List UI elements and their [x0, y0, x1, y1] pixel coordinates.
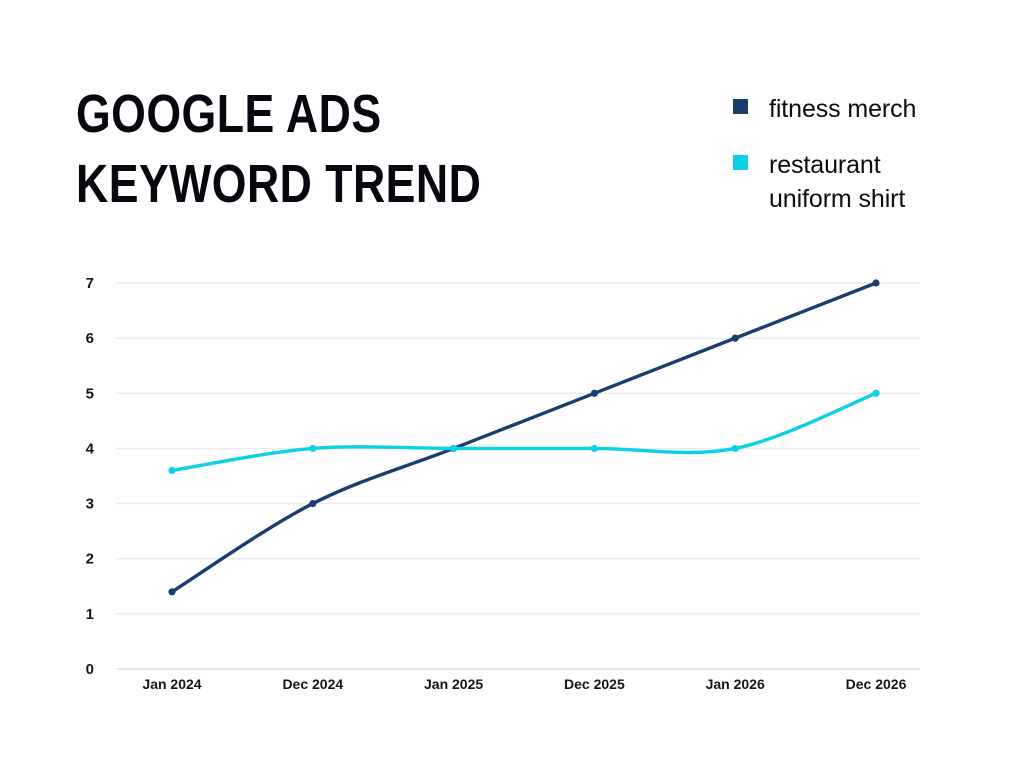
line-chart: 01234567 Jan 2024Dec 2024Jan 2025Dec 202…: [0, 0, 1024, 768]
y-axis-tick-label: 3: [86, 496, 94, 513]
data-point-marker: [309, 445, 316, 452]
x-axis-tick-label: Dec 2024: [282, 676, 343, 692]
y-axis-tick-label: 7: [86, 275, 94, 292]
y-axis-tick-label: 4: [86, 440, 95, 457]
y-axis-tick-label: 5: [86, 385, 94, 402]
x-axis-tick-label: Jan 2025: [424, 676, 483, 692]
data-point-marker: [872, 390, 879, 397]
data-point-marker: [450, 445, 457, 452]
slide-canvas: GOOGLE ADS KEYWORD TREND fitness merch r…: [0, 0, 1024, 768]
series-lines: [172, 283, 876, 592]
x-axis-tick-label: Dec 2026: [846, 676, 907, 692]
gridlines: [117, 283, 920, 669]
y-axis-tick-label: 0: [86, 661, 94, 678]
y-axis-tick-label: 1: [86, 606, 94, 623]
data-point-marker: [732, 445, 739, 452]
y-axis-ticks: 01234567: [86, 275, 95, 678]
data-point-marker: [872, 279, 879, 286]
y-axis-tick-label: 2: [86, 551, 94, 568]
x-axis-ticks: Jan 2024Dec 2024Jan 2025Dec 2025Jan 2026…: [142, 676, 906, 692]
x-axis-tick-label: Dec 2025: [564, 676, 625, 692]
series-line: [172, 393, 876, 470]
data-point-marker: [591, 390, 598, 397]
data-point-marker: [168, 588, 175, 595]
data-point-marker: [168, 467, 175, 474]
y-axis-tick-label: 6: [86, 330, 94, 347]
data-point-marker: [591, 445, 598, 452]
x-axis-tick-label: Jan 2026: [706, 676, 765, 692]
x-axis-tick-label: Jan 2024: [142, 676, 201, 692]
data-point-marker: [309, 500, 316, 507]
data-point-marker: [732, 335, 739, 342]
